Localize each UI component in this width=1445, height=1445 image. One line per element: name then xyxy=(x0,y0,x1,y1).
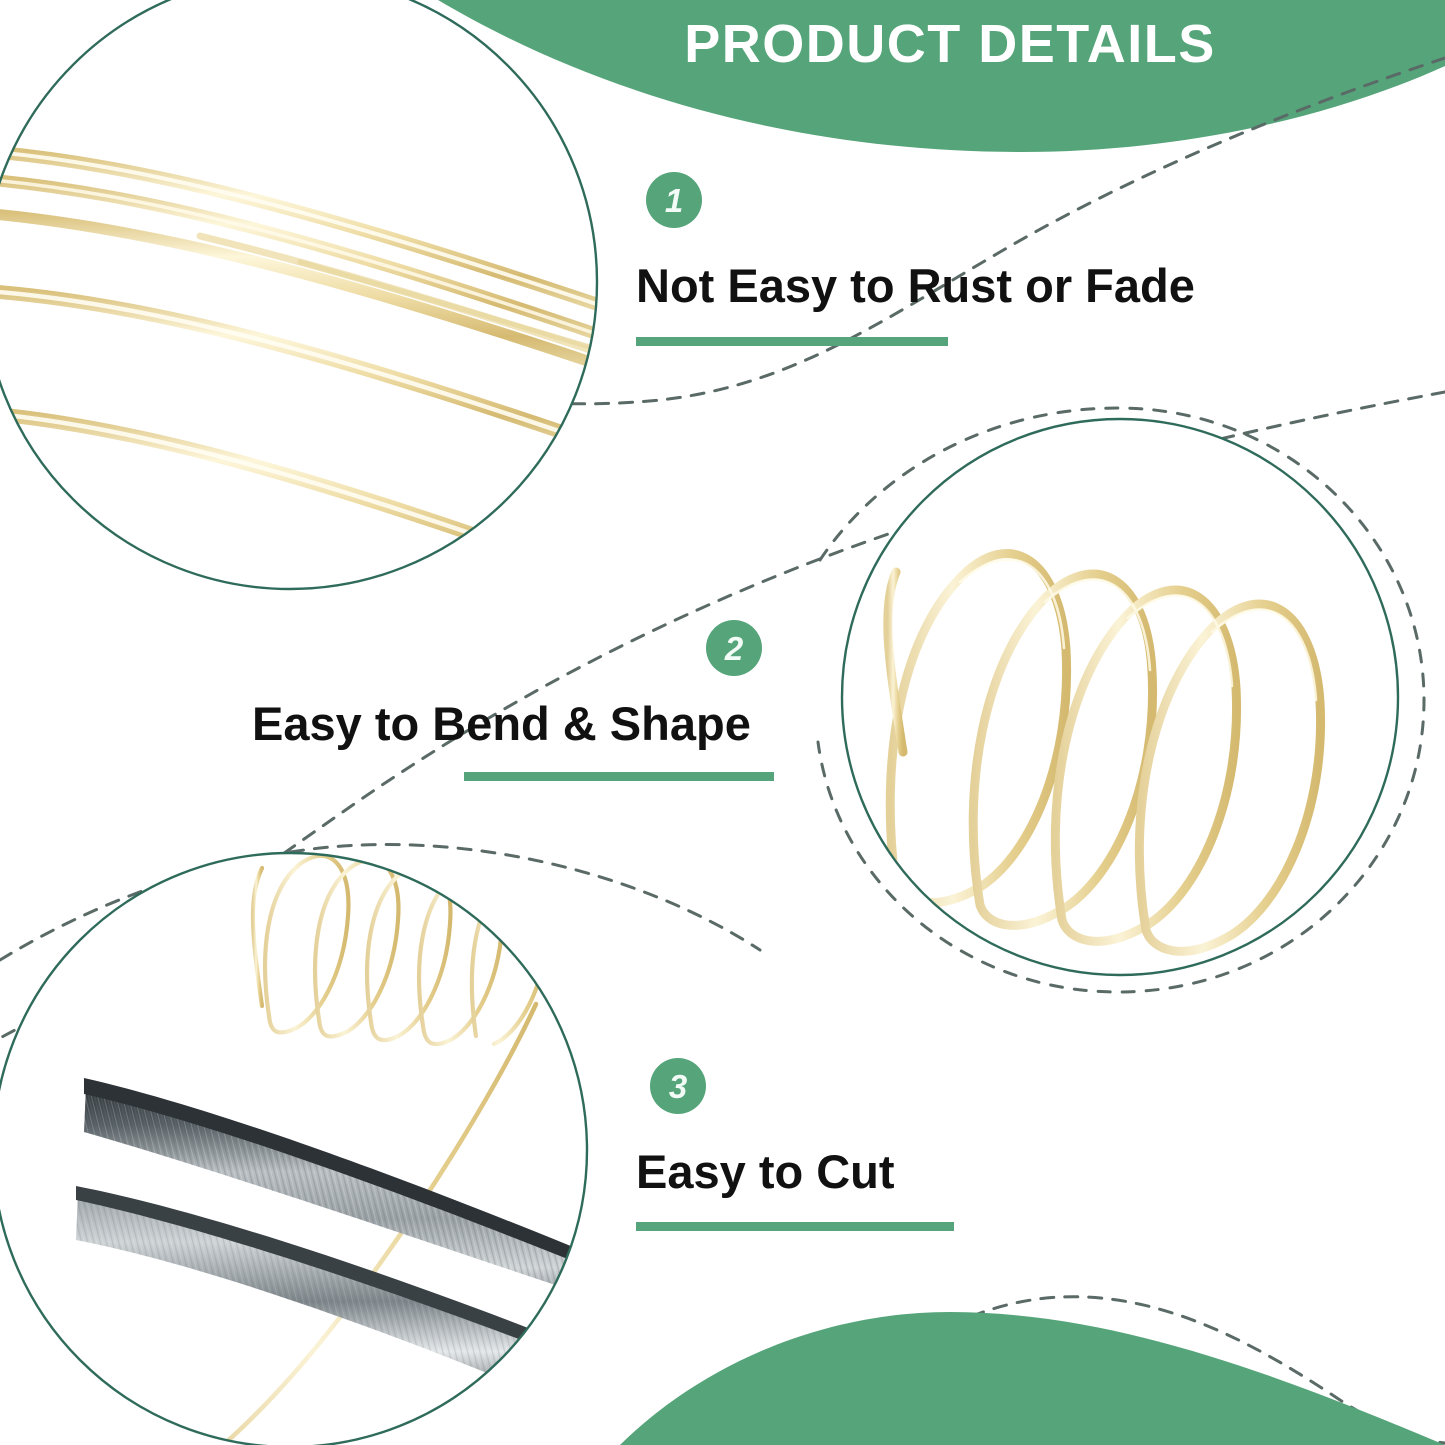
feature-underline-3 xyxy=(636,1222,954,1231)
feature-title-1: Not Easy to Rust or Fade xyxy=(636,262,1195,309)
feature-number-badge-3: 3 xyxy=(650,1058,706,1114)
feature-number-badge-1: 1 xyxy=(646,172,702,228)
feature-underline-1 xyxy=(636,337,948,346)
feature-underline-2 xyxy=(464,772,774,781)
page-title: PRODUCT DETAILS xyxy=(620,8,1280,80)
feature-number-badge-2: 2 xyxy=(706,620,762,676)
feature-title-3: Easy to Cut xyxy=(636,1148,895,1195)
feature-title-2: Easy to Bend & Shape xyxy=(252,700,751,747)
infographic-canvas: PRODUCT DETAILS 1 Not Easy to Rust or Fa… xyxy=(0,0,1445,1445)
